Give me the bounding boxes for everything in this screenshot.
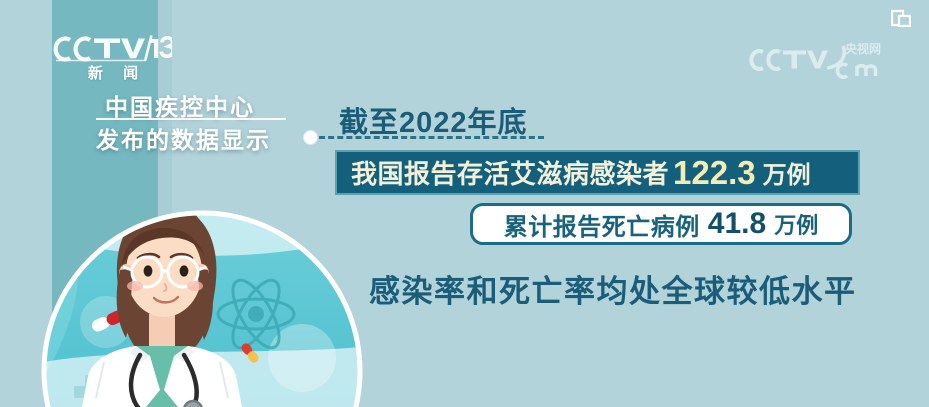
primary-stat-value: 122.3 (673, 156, 756, 189)
doctor-illustration (34, 196, 370, 407)
primary-stat-label: 我国报告存活艾滋病感染者 (351, 154, 669, 191)
lower-third-divider (96, 118, 286, 120)
lower-third-line1: 中国疾控中心 (105, 88, 255, 122)
bullet-point-marker (304, 131, 317, 144)
cctv13-logo (50, 33, 172, 63)
lower-third-line2: 发布的数据显示 (96, 121, 271, 155)
date-headline: 截至2022年底 (339, 99, 528, 141)
secondary-stat-label: 累计报告死亡病例 (504, 207, 700, 242)
broadcast-screenshot: 新 闻 中国疾控中心 发布的数据显示 央视网 (0, 0, 929, 407)
window-copy-icon (891, 9, 911, 29)
primary-stat-unit: 万例 (763, 155, 811, 190)
secondary-stat-unit: 万例 (774, 208, 818, 240)
primary-stat-banner: 我国报告存活艾滋病感染者 122.3 万例 (335, 150, 860, 195)
closing-statement: 感染率和死亡率均处全球较低水平 (369, 266, 857, 311)
secondary-stat-value: 41.8 (708, 209, 766, 239)
secondary-stat-banner: 累计报告死亡病例 41.8 万例 (470, 203, 852, 245)
cctv-com-watermark: 央视网 (747, 38, 887, 80)
svg-text:央视网: 央视网 (845, 41, 881, 56)
channel-subtitle: 新 闻 (78, 62, 148, 83)
